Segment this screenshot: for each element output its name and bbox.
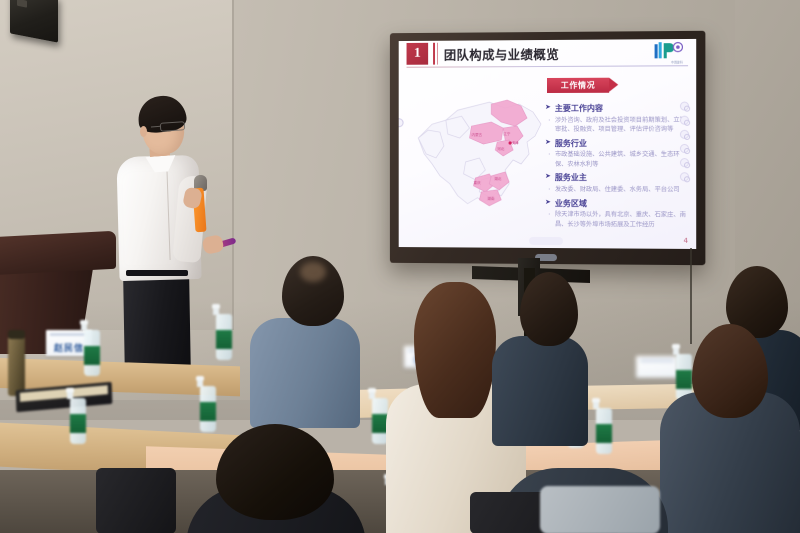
map-label-hebei: 河北	[497, 146, 505, 151]
wall-seam	[232, 0, 234, 330]
bullet-detail-3: 发改委、财政局、住建委、水务局、平台公司	[555, 185, 686, 195]
deco-circle-icon	[680, 102, 689, 111]
presenter-ear	[140, 126, 147, 137]
bullet-detail-2: 市政基础设施、公共建筑、城乡交通、生态环保、农林水利等	[555, 150, 686, 169]
presentation-slide: 1 团队构成与业绩概览 中国建科	[399, 39, 697, 249]
slide-deco-circle-left	[399, 118, 404, 127]
tv-power-cable	[690, 248, 692, 344]
deco-circle-icon	[680, 116, 689, 125]
bullet-detail-1: 涉外咨询、政府及社会投资项目前期策划、立项审批、投融资、项目管理、评估评价咨询等	[555, 115, 686, 135]
map-label-hubei: 湖北	[494, 176, 502, 181]
header-accent-bar-thin	[437, 43, 438, 65]
slide-footer-pill	[529, 237, 563, 245]
presenter-glasses-icon	[160, 121, 186, 132]
name-card-right	[636, 356, 678, 378]
map-label-hunan: 湖南	[487, 196, 495, 201]
section-number-badge: 1	[407, 43, 429, 65]
slide-header: 1 团队构成与业绩概览 中国建科	[399, 39, 697, 67]
name-card-left-label: 赵民信	[54, 341, 84, 354]
bullet-heading-4: ➤ 业务区域	[545, 198, 686, 210]
deco-circle-icon	[680, 158, 689, 167]
wall-mounted-tv: 1 团队构成与业绩概览 中国建科	[390, 31, 705, 265]
bullet-arrow-icon: ➤	[545, 138, 551, 147]
bullet-arrow-icon: ➤	[545, 198, 551, 207]
bullet-detail-4: 除天津市场以外，具有北京、重庆、石家庄、南昌、长沙等外埠市场拓展及工作经历	[555, 210, 686, 230]
deco-circle-icon	[680, 130, 689, 139]
map-label-chongqing: 重庆	[473, 180, 481, 185]
map-label-neimenggu: 内蒙古	[472, 132, 483, 137]
chair-left	[96, 468, 176, 533]
bullet-heading-2: ➤ 服务行业	[545, 138, 686, 149]
podium-top	[0, 231, 116, 276]
header-divider	[407, 65, 689, 68]
bullet-arrow-icon: ➤	[545, 172, 551, 181]
china-map: 内蒙古 辽宁 河北 重庆 湖北 湖南 天津	[410, 80, 561, 230]
audience-bald-spot	[300, 262, 326, 282]
header-accent-bar	[433, 43, 435, 65]
slide-page-number: 4	[684, 237, 689, 245]
map-label-liaoning: 辽宁	[503, 131, 511, 136]
slide-title: 团队构成与业绩概览	[444, 44, 559, 64]
work-overview-banner-label: 工作情况	[561, 80, 595, 91]
map-label-tianjin: 天津	[512, 140, 519, 145]
slide-deco-circle-column	[680, 102, 691, 187]
bullet-heading-3: ➤ 服务业主	[545, 172, 686, 183]
tv-screen: 1 团队构成与业绩概览 中国建科	[399, 39, 697, 249]
bullet-arrow-icon: ➤	[545, 103, 551, 112]
bullet-heading-3-label: 服务业主	[555, 172, 587, 183]
bullet-list: ➤ 主要工作内容 涉外咨询、政府及社会投资项目前期策划、立项审批、投融资、项目管…	[545, 100, 686, 231]
deco-circle-icon	[680, 172, 689, 181]
bullet-heading-2-label: 服务行业	[555, 138, 587, 149]
conference-room-scene: 1 团队构成与业绩概览 中国建科	[0, 0, 800, 533]
brand-subtext: 中国建科	[671, 60, 683, 64]
thermos-flask	[8, 336, 25, 396]
deco-circle-icon	[680, 144, 689, 153]
company-logo	[653, 41, 683, 61]
bullet-heading-1: ➤ 主要工作内容	[545, 103, 686, 114]
work-overview-banner: 工作情况	[547, 78, 609, 93]
presenter-belt	[126, 270, 188, 276]
bullet-heading-1-label: 主要工作内容	[555, 103, 603, 114]
sweater-on-chair	[540, 486, 660, 533]
bullet-heading-4-label: 业务区域	[555, 198, 587, 209]
